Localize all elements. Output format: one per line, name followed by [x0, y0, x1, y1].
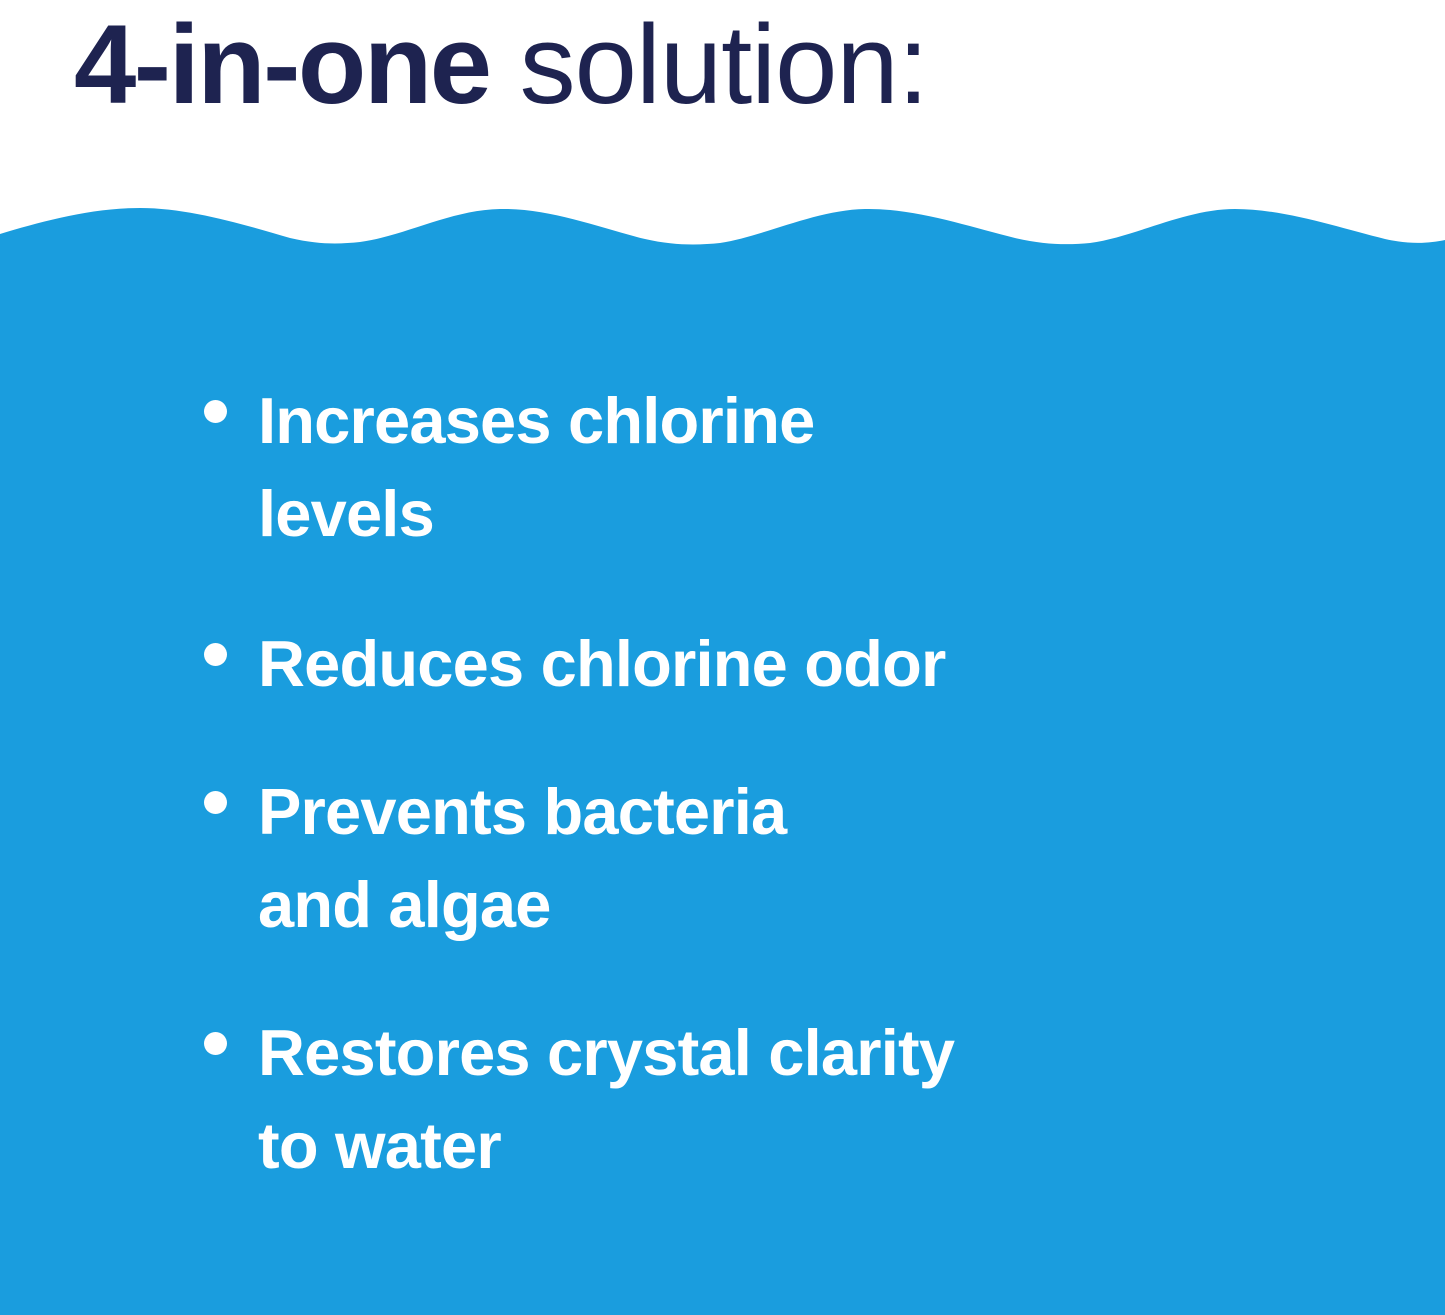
benefits-list: Increases chlorine levels Reduces chlori…: [0, 0, 1445, 1315]
bullet-dot-icon: [204, 791, 227, 814]
bullet-dot-icon: [204, 1032, 227, 1055]
list-item-label: Reduces chlorine odor: [258, 617, 1184, 710]
list-item: Restores crystal clarity to water: [204, 1006, 1214, 1192]
list-item-label: Restores crystal clarity to water: [258, 1006, 1214, 1192]
bullet-dot-icon: [204, 643, 227, 666]
list-item: Reduces chlorine odor: [204, 617, 1184, 710]
bullet-dot-icon: [204, 400, 227, 423]
list-item: Prevents bacteria and algae: [204, 765, 1004, 951]
promo-panel: 4-in-one solution: Increases chlorine le…: [0, 0, 1445, 1315]
list-item: Increases chlorine levels: [204, 374, 1004, 560]
list-item-label: Increases chlorine levels: [258, 374, 1004, 560]
list-item-label: Prevents bacteria and algae: [258, 765, 1004, 951]
